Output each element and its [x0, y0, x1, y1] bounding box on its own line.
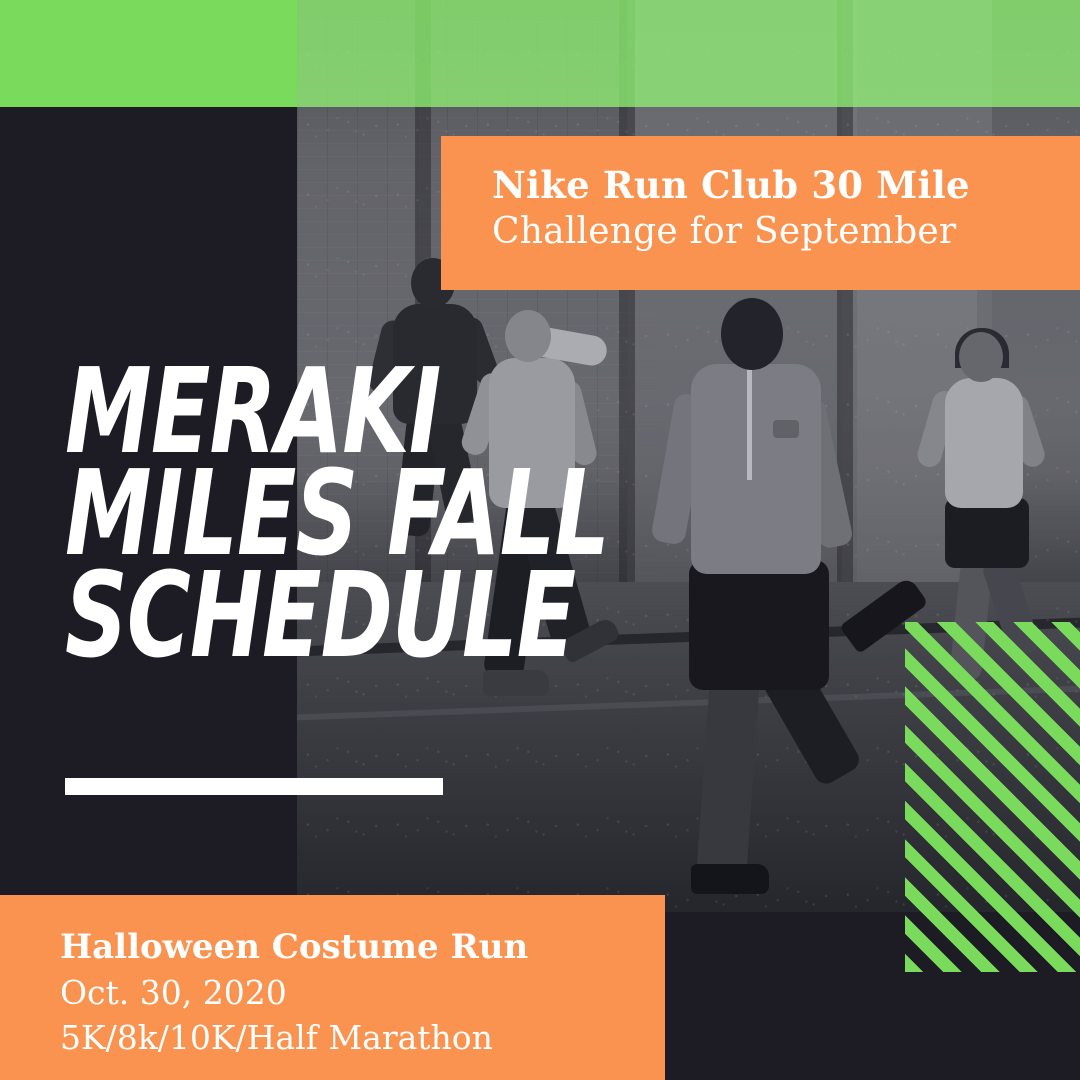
event-distances: 5K/8k/10K/Half Marathon	[60, 1015, 665, 1060]
green-top-bar	[0, 0, 297, 107]
title-underline-rule	[65, 778, 443, 795]
runner-silhouette-3	[655, 298, 895, 898]
challenge-banner-title: Nike Run Club 30 Mile	[492, 162, 1080, 208]
green-photo-overlay-tint	[297, 0, 1080, 107]
challenge-banner-subtitle: Challenge for September	[492, 208, 1080, 256]
page-title: MERAKI MILES FALL SCHEDULE	[65, 360, 665, 666]
event-name: Halloween Costume Run	[60, 924, 665, 970]
page-title-line-3: SCHEDULE	[65, 564, 557, 666]
diagonal-stripes-decoration	[905, 622, 1080, 972]
event-date: Oct. 30, 2020	[60, 970, 665, 1015]
challenge-banner: Nike Run Club 30 Mile Challenge for Sept…	[441, 136, 1080, 290]
poster-canvas: Nike Run Club 30 Mile Challenge for Sept…	[0, 0, 1080, 1080]
event-details-block: Halloween Costume Run Oct. 30, 2020 5K/8…	[0, 895, 665, 1080]
